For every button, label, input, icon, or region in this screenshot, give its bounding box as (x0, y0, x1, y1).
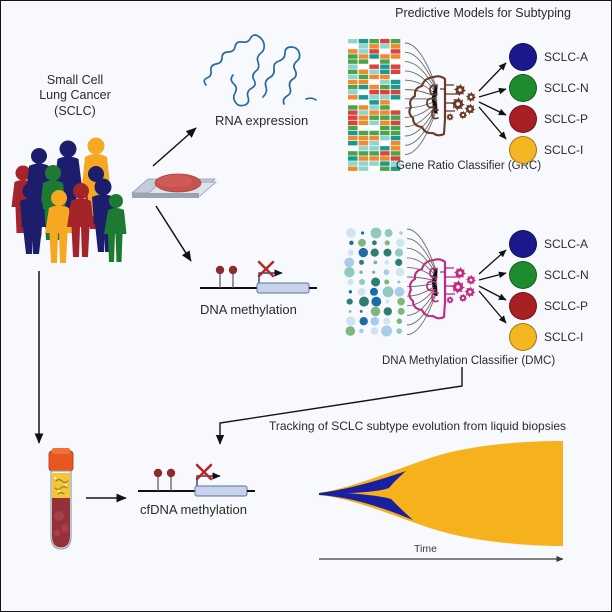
methylation-bubble-plot-icon (344, 228, 405, 337)
rna-strand-icon (204, 35, 316, 106)
arrow-slide-to-rna (153, 128, 196, 166)
subtype-dot-sclc-i (509, 323, 537, 351)
methylated-gene-icon (200, 262, 317, 293)
time-axis-label: Time (414, 543, 437, 556)
figure-canvas: Predictive Models for Subtyping Small Ce… (0, 0, 612, 612)
predictive-models-title: Predictive Models for Subtyping (383, 6, 583, 21)
subtype-label-sclc-n: SCLC-N (544, 268, 589, 282)
dmc-subtype-row-sclc-a[interactable]: SCLC-A (509, 228, 589, 259)
tissue-slide-icon (132, 174, 216, 198)
subtype-dot-sclc-i (509, 136, 537, 164)
subtype-label-sclc-a: SCLC-A (544, 237, 588, 251)
subtype-label-sclc-p: SCLC-P (544, 299, 588, 313)
subtype-dot-sclc-p (509, 292, 537, 320)
grc-subtype-row-sclc-n[interactable]: SCLC-N (509, 72, 589, 103)
grc-subtype-row-sclc-p[interactable]: SCLC-P (509, 103, 589, 134)
subtype-dot-sclc-a (509, 230, 537, 258)
assay-label-dna-methylation: DNA methylation (200, 302, 297, 318)
blood-collection-tube-icon (49, 448, 73, 549)
dmc-subtype-row-sclc-i[interactable]: SCLC-I (509, 321, 589, 352)
grc-subtype-row-sclc-i[interactable]: SCLC-I (509, 134, 589, 165)
dmc-output-arrows (479, 250, 506, 323)
crowd-of-patients-icon (12, 138, 127, 264)
gene-expression-heatmap-icon (348, 39, 400, 171)
subtype-label-sclc-n: SCLC-N (544, 81, 589, 95)
clone-sclc-a (319, 471, 413, 520)
grc-subtype-row-sclc-a[interactable]: SCLC-A (509, 41, 589, 72)
subtype-dot-sclc-n (509, 261, 537, 289)
dmc-input-arrows (407, 229, 437, 335)
classifier-caption-dmc: DNA Methylation Classifier (DMC) (382, 354, 555, 368)
arrow-slide-to-methylation (156, 206, 191, 261)
dmc-subtype-list: SCLC-ASCLC-NSCLC-PSCLC-I (509, 228, 589, 352)
subtype-label-sclc-a: SCLC-A (544, 50, 588, 64)
grc-input-arrows (405, 43, 437, 155)
dmc-subtype-row-sclc-n[interactable]: SCLC-N (509, 259, 589, 290)
subtype-dot-sclc-p (509, 105, 537, 133)
subtype-dot-sclc-a (509, 43, 537, 71)
grc-output-arrows (479, 63, 506, 139)
subtype-label-sclc-i: SCLC-I (544, 143, 583, 157)
assay-label-cfdna-methylation: cfDNA methylation (140, 502, 247, 518)
brain-gears-icon (409, 259, 476, 318)
brain-gears-icon (409, 76, 476, 135)
clonal-evolution-fish-plot (319, 441, 563, 546)
methylated-gene-icon (138, 465, 255, 496)
cohort-label: Small Cell Lung Cancer (SCLC) (17, 73, 133, 119)
subtype-label-sclc-p: SCLC-P (544, 112, 588, 126)
tracking-title: Tracking of SCLC subtype evolution from … (269, 419, 566, 434)
clone-sclc-i (319, 441, 563, 546)
subtype-label-sclc-i: SCLC-I (544, 330, 583, 344)
dmc-subtype-row-sclc-p[interactable]: SCLC-P (509, 290, 589, 321)
grc-subtype-list: SCLC-ASCLC-NSCLC-PSCLC-I (509, 41, 589, 165)
subtype-dot-sclc-n (509, 74, 537, 102)
assay-label-rna: RNA expression (215, 113, 308, 129)
